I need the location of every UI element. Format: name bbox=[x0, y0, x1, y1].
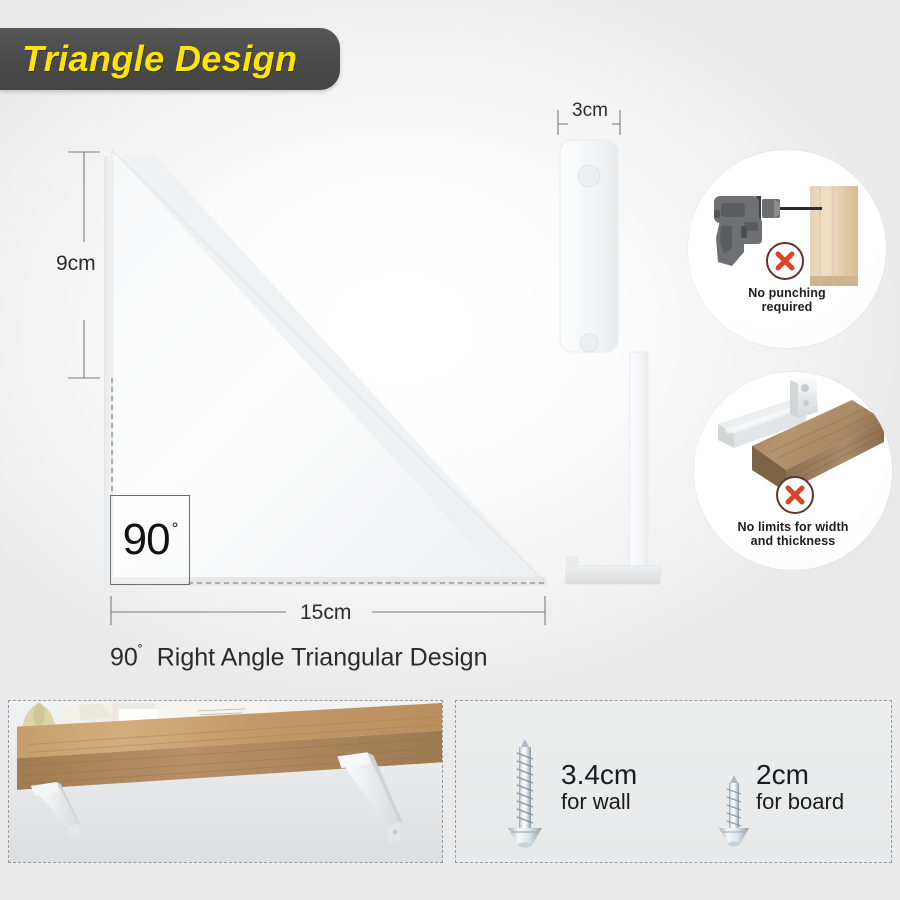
shelf-photo-panel bbox=[8, 700, 443, 863]
callout-line-1: No limits for width bbox=[694, 520, 892, 534]
dimension-label-plate: 3cm bbox=[572, 100, 608, 122]
screw-use-board: for board bbox=[756, 790, 844, 815]
product-caption: 90˚ Right Angle Triangular Design bbox=[110, 643, 487, 672]
degree-symbol: ° bbox=[172, 520, 178, 537]
callout-no-limits: No limits for width and thickness bbox=[694, 372, 892, 570]
screw-icon bbox=[719, 775, 749, 846]
right-angle-indicator: 90 ° bbox=[110, 495, 190, 585]
callout-line-1: No punching bbox=[688, 286, 886, 300]
callout-no-punching: No punching required bbox=[688, 150, 886, 348]
angle-value: 90 bbox=[123, 518, 170, 562]
title-banner-text: Triangle Design bbox=[22, 38, 297, 80]
callout-line-2: and thickness bbox=[694, 534, 892, 548]
caption-degree-symbol: ˚ bbox=[138, 643, 143, 660]
dimension-label-width: 15cm bbox=[300, 601, 351, 625]
screw-icon bbox=[508, 739, 542, 848]
caption-text: Right Angle Triangular Design bbox=[157, 643, 488, 671]
screw-use-wall: for wall bbox=[561, 790, 637, 815]
red-x-icon bbox=[776, 476, 814, 514]
screw-label-wall: 3.4cm for wall bbox=[561, 759, 637, 815]
screw-length-board: 2cm bbox=[756, 759, 844, 790]
callout-line-2: required bbox=[688, 300, 886, 314]
screw-label-board: 2cm for board bbox=[756, 759, 844, 815]
red-x-icon bbox=[766, 242, 804, 280]
screw-length-wall: 3.4cm bbox=[561, 759, 637, 790]
callout-no-punching-caption: No punching required bbox=[688, 286, 886, 315]
screws-panel: 3.4cm for wall 2cm for board bbox=[455, 700, 892, 863]
title-banner: Triangle Design bbox=[0, 28, 340, 90]
callout-no-limits-caption: No limits for width and thickness bbox=[694, 520, 892, 549]
dimension-label-height: 9cm bbox=[56, 252, 96, 276]
caption-angle: 90 bbox=[110, 643, 138, 671]
infographic-canvas: 9cm 15cm 3cm Triangle Design 90 ° 90˚ Ri… bbox=[0, 0, 900, 900]
shelf-photo bbox=[9, 701, 442, 862]
